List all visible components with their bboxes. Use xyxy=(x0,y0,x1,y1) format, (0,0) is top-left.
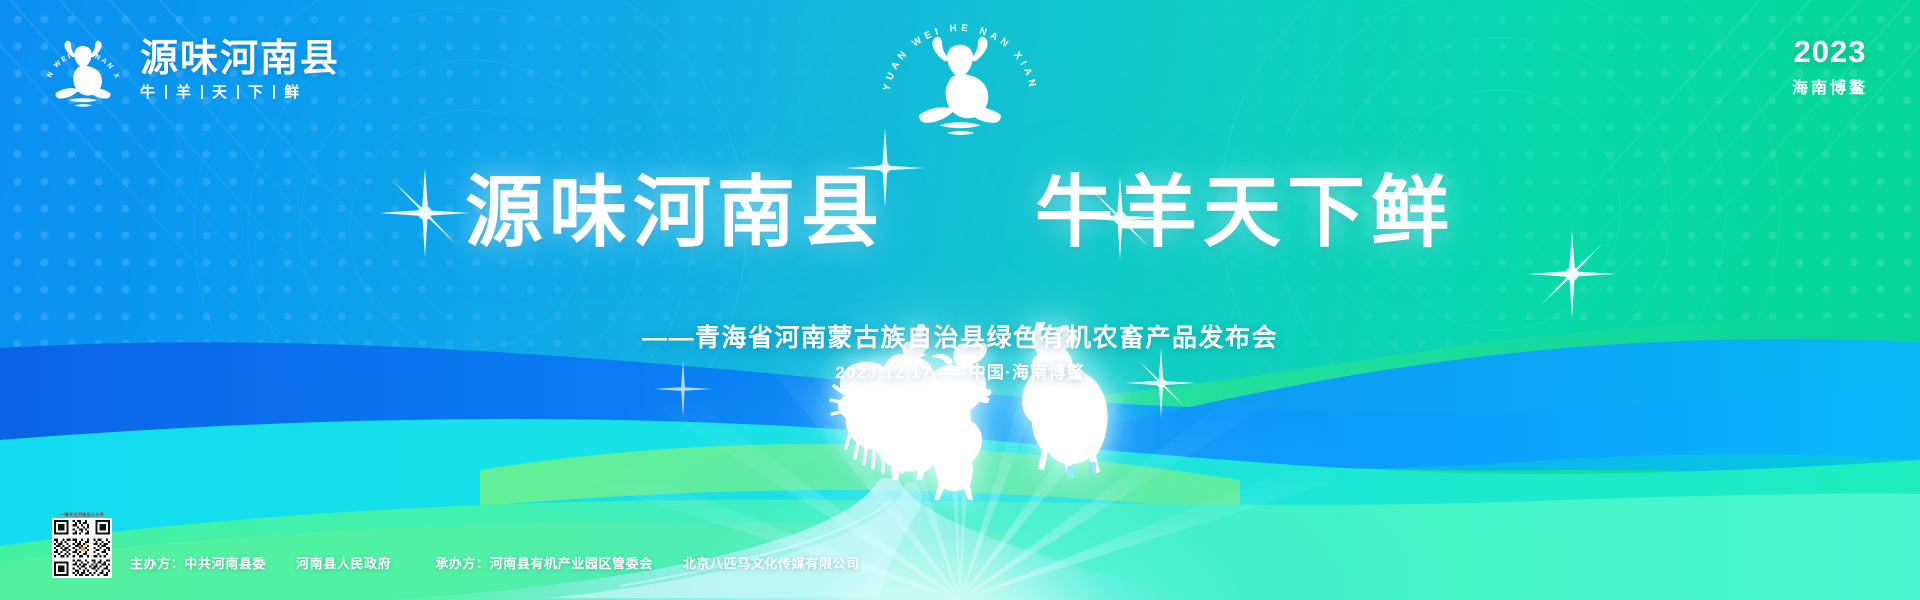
wechat-qr-code-icon[interactable] xyxy=(52,518,112,578)
organizer-label: 承办方： xyxy=(435,556,489,571)
brand-sub-char-1: 羊 xyxy=(176,81,192,102)
event-subtitle: ——青海省河南蒙古族自治县绿色有机农畜产品发布会 xyxy=(0,318,1920,354)
year-place-block: 2023 海南博鳌 xyxy=(1792,36,1868,98)
main-title-right: 牛羊天下鲜 xyxy=(1035,172,1455,254)
divider-bar xyxy=(237,85,239,99)
brand-logo-text: 源味河南县 牛 羊 天 下 鲜 xyxy=(140,40,340,102)
organizer-0: 河南县有机产业园区管委会 xyxy=(490,556,653,571)
organizer-1: 北京八匹马文化传媒有限公司 xyxy=(683,553,860,572)
brand-logo-title: 源味河南县 xyxy=(140,40,340,78)
sparkle-icon xyxy=(1528,230,1616,318)
brand-sub-char-4: 鲜 xyxy=(284,81,300,102)
host-group: 主办方：中共河南县委 河南县人民政府 xyxy=(130,553,391,572)
yak-emblem-icon: YUAN WEI HE NAN XIAN xyxy=(40,28,126,114)
host-0: 中共河南县委 xyxy=(184,556,266,571)
brand-sub-char-3: 下 xyxy=(248,81,264,102)
brand-logo-subtitle: 牛 羊 天 下 鲜 xyxy=(140,81,340,102)
qr-caption: 一键关注河南县公众号 xyxy=(52,512,112,518)
brand-logo-center: YUAN WEI HE NAN XIAN xyxy=(870,18,1050,148)
organizer-group: 承办方：河南县有机产业园区管委会 北京八匹马文化传媒有限公司 xyxy=(435,553,859,572)
main-title-row: 源味河南县 牛羊天下鲜 xyxy=(0,172,1920,254)
main-title-left: 源味河南县 xyxy=(465,172,885,254)
event-dateline: 2023.12.17——中国·海南博鳌 xyxy=(0,358,1920,383)
divider-bar xyxy=(273,85,275,99)
organizer-label-and-first: 承办方：河南县有机产业园区管委会 xyxy=(435,553,653,572)
event-backdrop-poster: YUAN WEI HE NAN XIAN xyxy=(0,0,1920,600)
sparkle-icon xyxy=(380,168,470,258)
footer-credits: 主办方：中共河南县委 河南县人民政府 承办方：河南县有机产业园区管委会 北京八匹… xyxy=(130,553,860,572)
host-1: 河南县人民政府 xyxy=(296,553,391,572)
sparkle-icon xyxy=(1078,176,1162,260)
host-label: 主办方： xyxy=(130,556,184,571)
brand-sub-char-0: 牛 xyxy=(140,81,156,102)
brand-sub-char-2: 天 xyxy=(212,81,228,102)
divider-bar xyxy=(165,85,167,99)
event-place: 海南博鳌 xyxy=(1792,74,1868,98)
qr-code-block[interactable]: 一键关注河南县公众号 xyxy=(52,512,112,578)
brand-logo-left[interactable]: YUAN WEI HE NAN XIAN xyxy=(40,28,340,114)
host-label-and-first: 主办方：中共河南县委 xyxy=(130,553,266,572)
event-year: 2023 xyxy=(1792,36,1868,67)
sheep-silhouette xyxy=(916,376,991,500)
divider-bar xyxy=(201,85,203,99)
